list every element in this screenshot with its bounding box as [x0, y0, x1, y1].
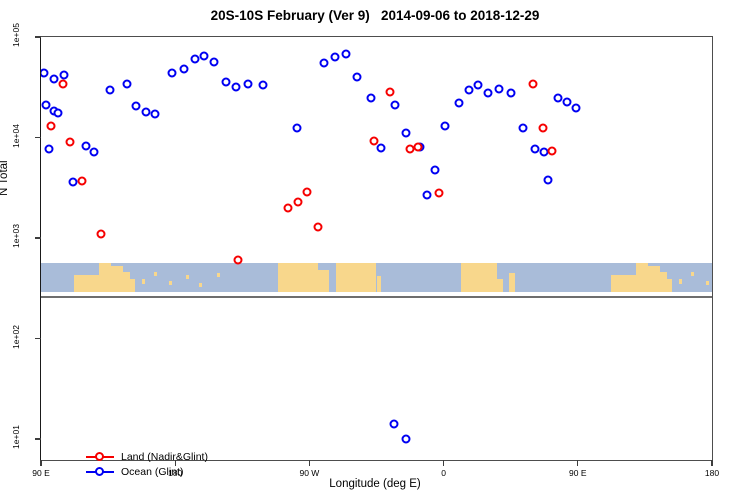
data-point-land [233, 256, 242, 265]
y-tick-mark [35, 137, 41, 138]
legend-dot-ocean [95, 467, 104, 476]
y-axis-title: N Total [0, 160, 10, 196]
data-point-ocean [293, 123, 302, 132]
data-point-ocean [90, 148, 99, 157]
map-landmass [636, 263, 648, 292]
map-landmass [461, 263, 480, 292]
map-landmass [278, 263, 297, 292]
data-point-ocean [45, 145, 54, 154]
data-point-land [385, 87, 394, 96]
y-tick-label: 1e+03 [1, 231, 31, 241]
x-tick-mark [711, 460, 712, 466]
map-landmass [481, 263, 497, 292]
data-point-ocean [221, 77, 230, 86]
y-tick-mark [35, 338, 41, 339]
data-point-land [97, 229, 106, 238]
map-landmass [130, 279, 134, 292]
map-landmass [142, 279, 145, 284]
plot-area: 1e+051e+041e+031e+021e+01 90 E18090 W090… [40, 36, 713, 461]
y-tick-mark [35, 36, 41, 37]
y-tick-label: 1e+04 [1, 131, 31, 141]
data-point-ocean [69, 178, 78, 187]
data-point-ocean [430, 166, 439, 175]
data-point-land [547, 147, 556, 156]
x-axis-title: Longitude (deg E) [0, 478, 750, 490]
map-landmass [111, 266, 123, 292]
legend-label-ocean: Ocean (Glint) [121, 466, 183, 478]
map-landmass [509, 273, 515, 292]
map-landmass [297, 263, 318, 292]
map-landmass [377, 276, 381, 292]
data-point-ocean [376, 144, 385, 153]
data-point-ocean [484, 89, 493, 98]
data-point-land [47, 122, 56, 131]
map-landmass [336, 263, 354, 292]
data-point-ocean [122, 80, 131, 89]
data-point-ocean [402, 435, 411, 444]
data-point-ocean [554, 94, 563, 103]
legend-marker-land [85, 451, 115, 463]
legend-dot-land [95, 452, 104, 461]
data-point-land [314, 222, 323, 231]
map-landmass [611, 275, 636, 292]
data-point-ocean [391, 101, 400, 110]
x-tick-mark [577, 460, 578, 466]
data-point-ocean [423, 190, 432, 199]
data-point-ocean [191, 55, 200, 64]
data-point-ocean [209, 58, 218, 67]
data-point-ocean [571, 104, 580, 113]
legend-marker-ocean [85, 466, 115, 478]
map-landmass [497, 279, 503, 292]
data-point-ocean [232, 82, 241, 91]
page-title: 20S-10S February (Ver 9) 2014-09-06 to 2… [0, 8, 750, 23]
map-landmass [318, 270, 328, 292]
data-point-ocean [244, 80, 253, 89]
data-point-land [59, 80, 68, 89]
figure-canvas: 20S-10S February (Ver 9) 2014-09-06 to 2… [0, 0, 750, 500]
map-landmass [217, 273, 220, 277]
x-tick-label: 90 W [299, 468, 319, 478]
map-band [41, 263, 712, 292]
map-landmass [186, 275, 189, 279]
map-landmass [123, 272, 130, 292]
data-point-ocean [54, 108, 63, 117]
data-point-ocean [341, 49, 350, 58]
data-point-ocean [563, 98, 572, 107]
data-point-land [413, 142, 422, 151]
data-point-ocean [141, 107, 150, 116]
data-point-ocean [151, 109, 160, 118]
data-point-ocean [353, 72, 362, 81]
x-tick-label: 90 E [569, 468, 587, 478]
legend-item-land[interactable]: Land (Nadir&Glint) [85, 449, 208, 464]
y-tick-label: 1e+02 [1, 332, 31, 342]
x-tick-mark [40, 460, 41, 466]
map-landmass [99, 263, 111, 292]
data-point-ocean [390, 420, 399, 429]
data-point-ocean [200, 52, 209, 61]
map-landmass [706, 281, 709, 285]
data-point-ocean [494, 84, 503, 93]
data-point-ocean [402, 129, 411, 138]
data-point-land [283, 203, 292, 212]
data-point-ocean [131, 102, 140, 111]
data-point-ocean [259, 81, 268, 90]
data-point-ocean [454, 99, 463, 108]
legend-item-ocean[interactable]: Ocean (Glint) [85, 464, 208, 479]
data-point-ocean [59, 70, 68, 79]
map-landmass [154, 272, 157, 276]
data-point-ocean [49, 75, 58, 84]
data-point-ocean [331, 53, 340, 62]
data-point-ocean [464, 86, 473, 95]
y-tick-label: 1e+01 [1, 432, 31, 442]
data-point-ocean [41, 68, 48, 77]
data-point-land [538, 123, 547, 132]
data-point-ocean [81, 141, 90, 150]
x-tick-mark [443, 460, 444, 466]
data-point-land [294, 197, 303, 206]
data-point-land [303, 187, 312, 196]
x-tick-label: 90 E [32, 468, 50, 478]
map-landmass [660, 272, 667, 292]
map-landmass [199, 283, 202, 287]
map-landmass [648, 266, 660, 292]
map-landmass [691, 272, 694, 276]
data-point-land [66, 138, 75, 147]
data-point-ocean [105, 85, 114, 94]
data-point-land [435, 189, 444, 198]
data-point-land [369, 137, 378, 146]
map-band-divider [41, 296, 712, 298]
x-tick-mark [309, 460, 310, 466]
data-point-ocean [366, 94, 375, 103]
plot-inner [41, 37, 712, 460]
data-point-ocean [506, 88, 515, 97]
data-point-ocean [320, 59, 329, 68]
y-tick-label: 1e+05 [1, 30, 31, 40]
data-point-ocean [518, 123, 527, 132]
y-tick-mark [35, 438, 41, 439]
data-point-ocean [543, 175, 552, 184]
data-point-ocean [180, 65, 189, 74]
data-point-ocean [441, 122, 450, 131]
y-tick-mark [35, 237, 41, 238]
x-tick-label: 180 [705, 468, 719, 478]
map-landmass [169, 281, 172, 285]
data-point-land [529, 80, 538, 89]
map-landmass [354, 263, 376, 292]
data-point-ocean [168, 68, 177, 77]
map-landmass [74, 275, 99, 292]
legend: Land (Nadir&Glint) Ocean (Glint) [85, 449, 208, 479]
map-landmass [679, 279, 682, 284]
data-point-ocean [473, 80, 482, 89]
data-point-ocean [530, 145, 539, 154]
x-tick-label: 0 [441, 468, 446, 478]
legend-label-land: Land (Nadir&Glint) [121, 451, 208, 463]
map-landmass [667, 279, 671, 292]
data-point-land [78, 176, 87, 185]
